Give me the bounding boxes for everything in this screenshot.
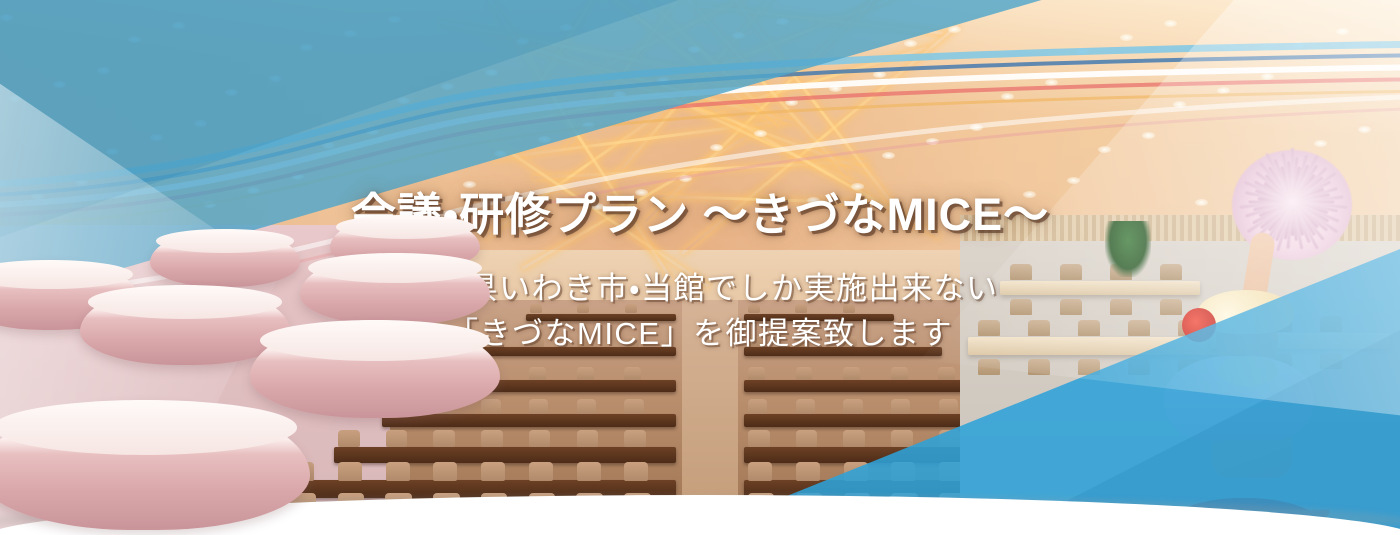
banquet-round-table bbox=[80, 285, 290, 365]
banquet-round-table bbox=[250, 320, 500, 418]
banquet-round-table bbox=[150, 229, 300, 287]
hero-banner: 会議・研修プラン ～きづなMICE～ 福島県いわき市・当館でしか実施出来ない 「… bbox=[0, 0, 1400, 535]
banquet-round-table bbox=[300, 253, 490, 325]
banquet-round-table bbox=[0, 400, 310, 530]
